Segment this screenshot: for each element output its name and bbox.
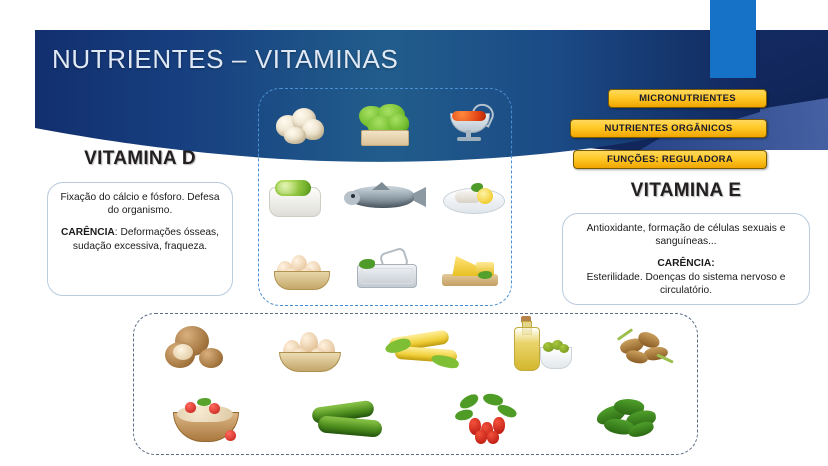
vitamin-d-deficiency-label: CARÊNCIA [61, 227, 115, 238]
collage-row [259, 89, 511, 161]
collage-row [259, 233, 511, 305]
lettuce-crate-image [355, 104, 413, 146]
sardines-tin-image [355, 250, 417, 288]
badge-micronutrientes[interactable]: MICRONUTRIENTES [608, 89, 767, 108]
badge-nutrientes-organicos[interactable]: NUTRIENTES ORGÂNICOS [570, 119, 767, 138]
slide-canvas: NUTRIENTES – VITAMINAS MICRONUTRIENTES N… [0, 0, 828, 466]
vitamin-e-textbox: Antioxidante, formação de células sexuai… [562, 213, 810, 305]
vitamin-d-food-collage [258, 88, 512, 306]
cucumbers-image [310, 398, 384, 440]
vitamin-e-deficiency-text: Esterilidade. Doenças do sistema nervoso… [572, 271, 800, 297]
corn-image [385, 326, 463, 372]
vitamin-e-function: Antioxidante, formação de células sexuai… [572, 222, 800, 248]
vitamin-e-deficiency-colon: : [711, 258, 714, 269]
caviar-bowl-image [442, 105, 496, 145]
accent-bar-icon [710, 0, 756, 78]
eggs-basket-image [272, 249, 330, 289]
peas-bag-image [267, 177, 323, 217]
collage-row [134, 384, 697, 454]
vitamin-d-textbox: Fixação do cálcio e fósforo. Defesa do o… [47, 182, 233, 296]
vitamin-e-food-collage [133, 313, 698, 455]
vitamin-e-deficiency-label: CARÊNCIA [657, 258, 711, 269]
vitamin-e-title: VITAMINA E [576, 180, 796, 202]
cheese-board-image [442, 250, 498, 288]
vitamin-d-title: VITAMINA D [40, 148, 240, 170]
eggs-bowl-image [275, 326, 343, 372]
page-title: NUTRIENTES – VITAMINAS [52, 44, 398, 75]
mushrooms-image [274, 105, 326, 145]
olive-oil-image [506, 325, 572, 373]
vitamin-e-deficiency-heading: CARÊNCIA: [572, 257, 800, 270]
spacer [572, 248, 800, 257]
walnuts-image [155, 324, 233, 374]
spacer [57, 217, 223, 226]
spinach-image [594, 397, 662, 441]
oatmeal-bowl-image [169, 396, 241, 442]
dried-mushrooms-image [614, 327, 676, 371]
vitamin-d-function: Fixação do cálcio e fósforo. Defesa do o… [57, 191, 223, 217]
badge-funcoes-reguladora[interactable]: FUNÇÕES: REGULADORA [573, 150, 767, 169]
vitamin-d-deficiency: CARÊNCIA: Deformações ósseas, sudação ex… [57, 226, 223, 252]
fish-plate-image [443, 178, 503, 216]
fish-image [340, 178, 426, 216]
collage-row [134, 314, 697, 384]
collage-row [259, 161, 511, 233]
rosehip-image [453, 394, 525, 444]
